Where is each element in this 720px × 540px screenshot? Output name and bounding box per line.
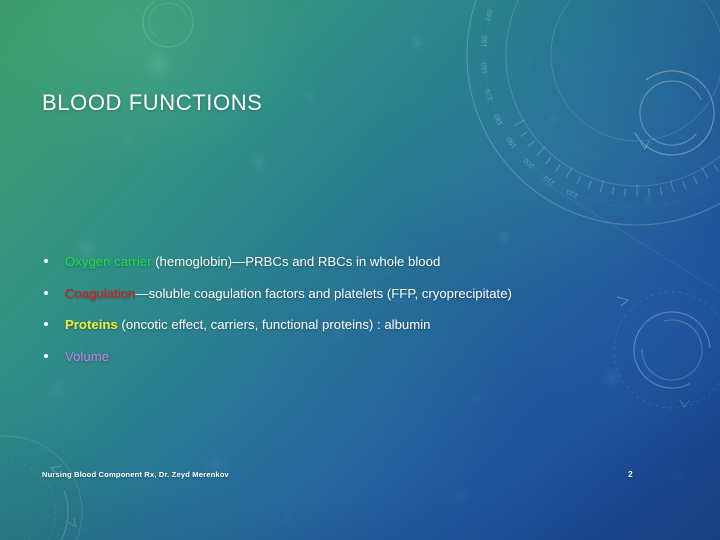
- bullet-keyword: Oxygen carrier: [65, 254, 151, 269]
- bullet-keyword: Proteins: [65, 317, 118, 332]
- svg-text:140: 140: [485, 9, 495, 22]
- svg-text:150: 150: [481, 35, 489, 47]
- bullet-text: —soluble coagulation factors and platele…: [135, 286, 512, 301]
- bullet-dot-icon: [44, 259, 48, 263]
- svg-text:210: 210: [543, 174, 557, 186]
- svg-text:160: 160: [481, 62, 489, 74]
- small-ring-icon: [132, 0, 204, 58]
- page-title: BLOOD FUNCTIONS: [42, 90, 262, 116]
- bullet-list: Oxygen carrier (hemoglobin)—PRBCs and RB…: [40, 251, 660, 377]
- bullet-text: (hemoglobin)—PRBCs and RBCs in whole blo…: [151, 254, 440, 269]
- svg-text:220: 220: [566, 188, 580, 199]
- page-number: 2: [628, 469, 633, 479]
- list-item: Oxygen carrier (hemoglobin)—PRBCs and RB…: [40, 251, 660, 272]
- bullet-text: (oncotic effect, carriers, functional pr…: [118, 317, 431, 332]
- list-item: Proteins (oncotic effect, carriers, func…: [40, 314, 660, 335]
- list-item: Coagulation—soluble coagulation factors …: [40, 283, 660, 304]
- bullet-dot-icon: [44, 291, 48, 295]
- bullet-dot-icon: [44, 322, 48, 326]
- svg-text:180: 180: [493, 113, 504, 127]
- ring-icon: [612, 53, 720, 173]
- svg-text:200: 200: [522, 156, 535, 169]
- svg-text:170: 170: [485, 88, 495, 101]
- bullet-dot-icon: [44, 354, 48, 358]
- footer-attribution: Nursing Blood Component Rx, Dr. Zeyd Mer…: [42, 470, 229, 479]
- list-item: Volume: [40, 346, 660, 367]
- bullet-keyword: Coagulation: [65, 286, 135, 301]
- svg-text:190: 190: [506, 136, 518, 150]
- bullet-keyword: Volume: [65, 349, 109, 364]
- arc-icon: [0, 426, 124, 540]
- slide-canvas: 220 210 200 190 180 170 160 150 140 130 …: [0, 0, 720, 540]
